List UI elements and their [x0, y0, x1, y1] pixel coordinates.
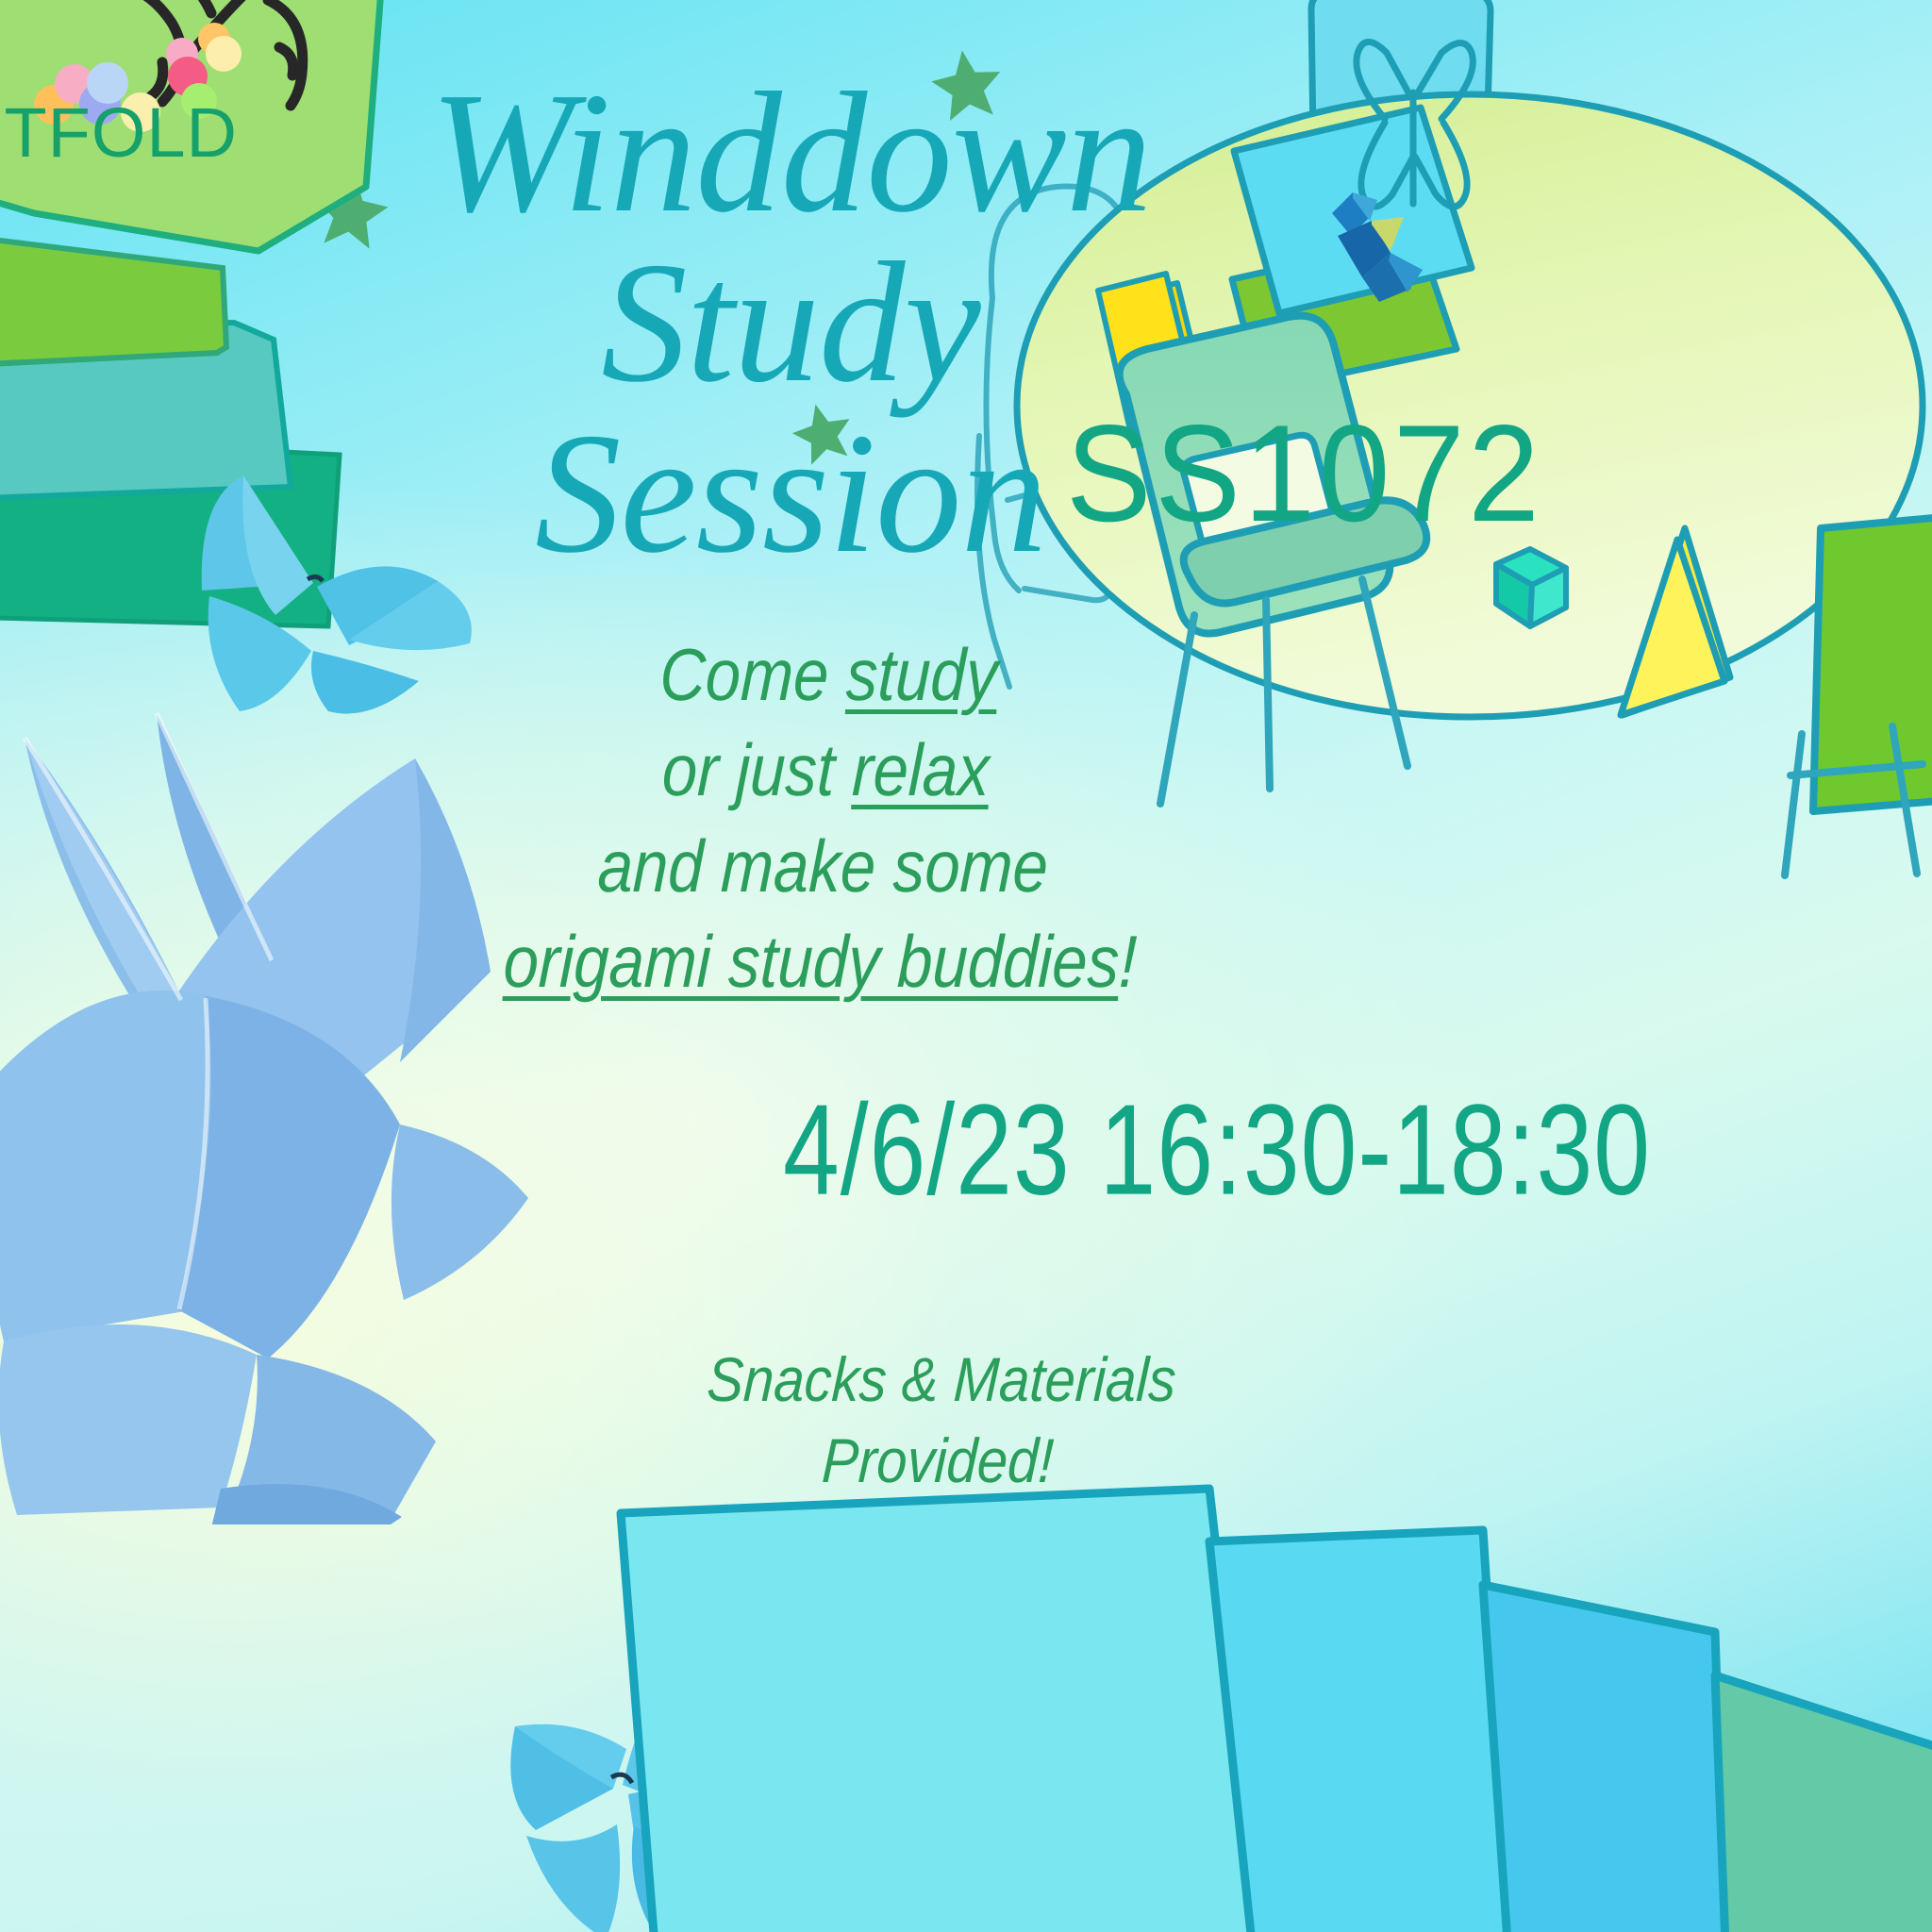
body-line-1-prefix: Come	[658, 633, 847, 716]
body-emphasis-origami-buddies: origami study buddies	[502, 920, 1120, 1003]
event-datetime: 4/6/23 16:30-18:30	[556, 1075, 1878, 1224]
utfold-wordmark: UTFOLD	[0, 92, 241, 173]
body-line-4: origami study buddies!	[461, 914, 1178, 1009]
footer-line-2: Provided!	[678, 1421, 1197, 1502]
body-line-4-suffix: !	[1118, 920, 1138, 1003]
footer-note: Snacks & Materials Provided!	[678, 1340, 1201, 1502]
body-line-1: Come study	[471, 627, 1188, 723]
body-copy: Come study or just relax and make some o…	[461, 627, 1187, 1010]
title-line-2: Study	[375, 238, 1206, 408]
paper-fan-stack	[604, 1479, 1932, 1932]
body-line-2: or just relax	[468, 723, 1185, 818]
body-line-2-prefix: or just	[661, 728, 854, 811]
poster-canvas: UTFOLD	[0, 0, 1932, 1932]
confetti-cream-2	[206, 36, 241, 72]
room-number: SS1072	[1066, 394, 1908, 553]
body-emphasis-study: study	[845, 633, 999, 716]
utfold-logo-card: UTFOLD	[0, 0, 415, 292]
footer-line-1: Snacks & Materials	[682, 1340, 1201, 1421]
body-emphasis-relax: relax	[851, 728, 991, 811]
title-line-1: Winddown	[375, 68, 1206, 238]
body-line-3: and make some	[464, 819, 1181, 914]
